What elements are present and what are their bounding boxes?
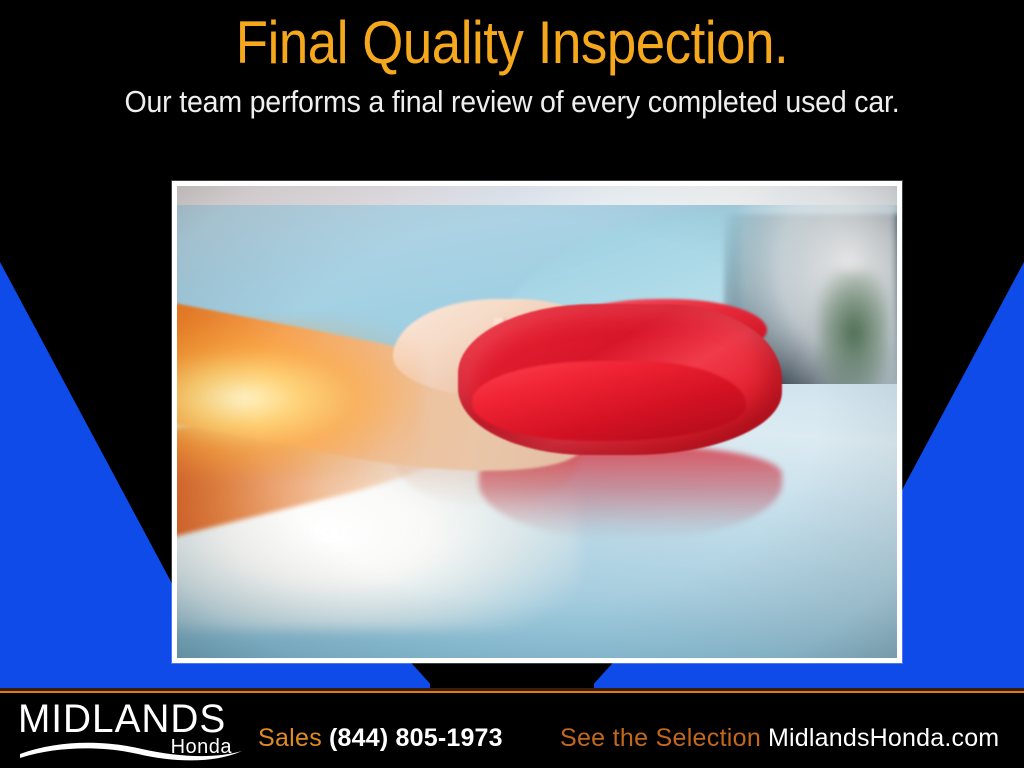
sales-phone-number[interactable]: (844) 805-1973: [329, 724, 503, 752]
ad-banner: Final Quality Inspection. Our team perfo…: [0, 0, 1024, 768]
hero-photo: [177, 186, 897, 658]
website-url[interactable]: MidlandsHonda.com: [768, 724, 999, 752]
logo-wordmark: MIDLANDS: [18, 698, 226, 740]
sales-label: Sales: [258, 724, 322, 752]
photo-frame: [172, 181, 902, 663]
header: Final Quality Inspection. Our team perfo…: [0, 0, 1024, 150]
dealer-logo[interactable]: MIDLANDS Honda: [18, 698, 248, 760]
selection-cta[interactable]: See the Selection MidlandsHonda.com: [560, 722, 999, 754]
photo-vignette: [177, 186, 897, 658]
selection-label: See the Selection: [560, 724, 761, 752]
sales-contact[interactable]: Sales (844) 805-1973: [258, 722, 503, 754]
logo-swoosh-icon: [18, 738, 244, 762]
page-subtitle: Our team performs a final review of ever…: [41, 78, 983, 122]
page-title: Final Quality Inspection.: [61, 0, 962, 78]
